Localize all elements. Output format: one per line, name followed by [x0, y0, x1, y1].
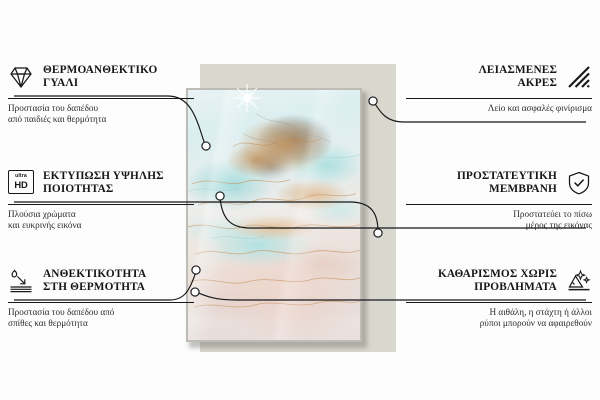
easy-clean-sparkle-icon — [566, 268, 592, 294]
divider — [406, 204, 592, 205]
feature-heat-resistant-glass: ΘΕΡΜΟΑΝΘΕΚΤΙΚΟ ΓΥΑΛΙ Προστασία του δαπέδ… — [8, 60, 194, 126]
callout-marker — [202, 142, 210, 150]
feature-heat-durability: ΑΝΘΕΚΤΙΚΟΤΗΤΑ ΣΤΗ ΘΕΡΜΟΤΗΤΑ Προστασία το… — [8, 264, 194, 330]
feature-subtitle: Προστατεύει το πίσω μέρος της εικόνας — [406, 209, 592, 232]
polished-edges-icon — [566, 64, 592, 90]
feature-protective-membrane: ΠΡΟΣΤΑΤΕΥΤΙΚΗ ΜΕΜΒΡΑΝΗ Προστατεύει το πί… — [406, 166, 592, 232]
heat-resistance-icon — [8, 268, 34, 294]
divider — [406, 98, 592, 99]
callout-marker — [369, 97, 377, 105]
feature-high-quality-print: ultra HD ΕΚΤΥΠΩΣΗ ΥΨΗΛΗΣ ΠΟΙΟΤΗΤΑΣ Πλούσ… — [8, 166, 194, 232]
callout-marker — [216, 192, 224, 200]
ultra-hd-badge-icon: ultra HD — [8, 170, 34, 196]
feature-easy-cleaning: ΚΑΘΑΡΙΣΜΟΣ ΧΩΡΙΣ ΠΡΟΒΛΗΜΑΤΑ Η αιθάλη, η … — [406, 264, 592, 330]
feature-subtitle: Προστασία του δαπέδου από παιδιές και θε… — [8, 103, 194, 126]
divider — [406, 302, 592, 303]
feature-title: ΠΡΟΣΤΑΤΕΥΤΙΚΗ ΜΕΜΒΡΑΝΗ — [457, 170, 557, 196]
shield-check-icon — [566, 170, 592, 196]
feature-polished-edges: ΛΕΙΑΣΜΕΝΕΣ ΑΚΡΕΣ Λείο και ασφαλές φινίρι… — [406, 60, 592, 114]
feature-title: ΑΝΘΕΚΤΙΚΟΤΗΤΑ ΣΤΗ ΘΕΡΜΟΤΗΤΑ — [43, 268, 146, 294]
divider — [8, 302, 194, 303]
feature-subtitle: Λείο και ασφαλές φινίρισμα — [406, 103, 592, 114]
feature-title: ΚΑΘΑΡΙΣΜΟΣ ΧΩΡΙΣ ΠΡΟΒΛΗΜΑΤΑ — [438, 268, 557, 294]
feature-subtitle: Η αιθάλη, η στάχτη ή άλλοι ρύποι μπορούν… — [406, 307, 592, 330]
feature-title: ΛΕΙΑΣΜΕΝΕΣ ΑΚΡΕΣ — [479, 64, 557, 90]
divider — [8, 98, 194, 99]
callout-marker — [374, 229, 382, 237]
feature-title: ΕΚΤΥΠΩΣΗ ΥΨΗΛΗΣ ΠΟΙΟΤΗΤΑΣ — [43, 170, 164, 196]
infographic-canvas: ΘΕΡΜΟΑΝΘΕΚΤΙΚΟ ΓΥΑΛΙ Προστασία του δαπέδ… — [0, 0, 600, 400]
feature-subtitle: Προστασία του δαπέδου από σπίθες και θερ… — [8, 307, 194, 330]
feature-subtitle: Πλούσια χρώματα και ευκρινής εικόνα — [8, 209, 194, 232]
feature-title: ΘΕΡΜΟΑΝΘΕΚΤΙΚΟ ΓΥΑΛΙ — [43, 64, 157, 90]
divider — [8, 204, 194, 205]
diamond-icon — [8, 64, 34, 90]
